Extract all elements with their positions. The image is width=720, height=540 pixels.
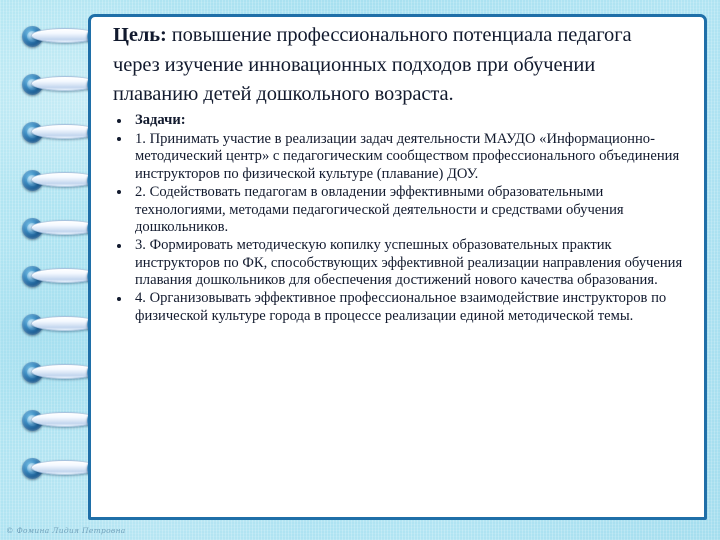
objectives-list: Задачи:1. Принимать участие в реализации…	[113, 112, 696, 325]
binder-ring-cap-left	[22, 74, 43, 95]
list-item: 2. Содействовать педагогам в овладении э…	[113, 184, 696, 237]
binder-ring-cap-left	[22, 458, 43, 479]
list-item: 1. Принимать участие в реализации задач …	[113, 131, 696, 184]
bullet-dot-icon	[117, 244, 121, 248]
binder-ring-cap-left	[22, 218, 43, 239]
binder-ring-cap-left	[22, 170, 43, 191]
content-inner: Цель: повышение профессионального потенц…	[113, 21, 696, 515]
binder-ring-cap-left	[22, 362, 43, 383]
binder-ring-cap-left	[22, 314, 43, 335]
page-title-rest: повышение профессионального потенциала п…	[113, 24, 632, 105]
bullet-dot-icon	[117, 297, 121, 301]
page-title-lead: Цель:	[113, 24, 167, 46]
author-watermark: © Фомина Лидия Петровна	[6, 526, 126, 535]
bullet-dot-icon	[117, 190, 121, 194]
list-item-label: 2. Содействовать педагогам в овладении э…	[135, 184, 624, 235]
binder-ring-cap-left	[22, 122, 43, 143]
bullet-dot-icon	[117, 137, 121, 141]
binder-ring-cap-left	[22, 26, 43, 47]
list-item: 4. Организовывать эффективное профессион…	[113, 290, 696, 325]
list-item: Задачи:	[113, 112, 696, 130]
binder-ring-cap-left	[22, 410, 43, 431]
bullet-dot-icon	[117, 119, 121, 123]
list-item-label: 4. Организовывать эффективное профессион…	[135, 290, 666, 324]
content-frame: Цель: повышение профессионального потенц…	[88, 14, 707, 520]
list-item: 3. Формировать методическую копилку успе…	[113, 237, 696, 290]
binder-ring-cap-left	[22, 266, 43, 287]
page-title: Цель: повышение профессионального потенц…	[113, 21, 696, 110]
slide-canvas: Цель: повышение профессионального потенц…	[0, 0, 720, 540]
list-item-label: 1. Принимать участие в реализации задач …	[135, 131, 679, 182]
list-item-label: Задачи:	[135, 112, 186, 128]
list-item-label: 3. Формировать методическую копилку успе…	[135, 237, 682, 288]
